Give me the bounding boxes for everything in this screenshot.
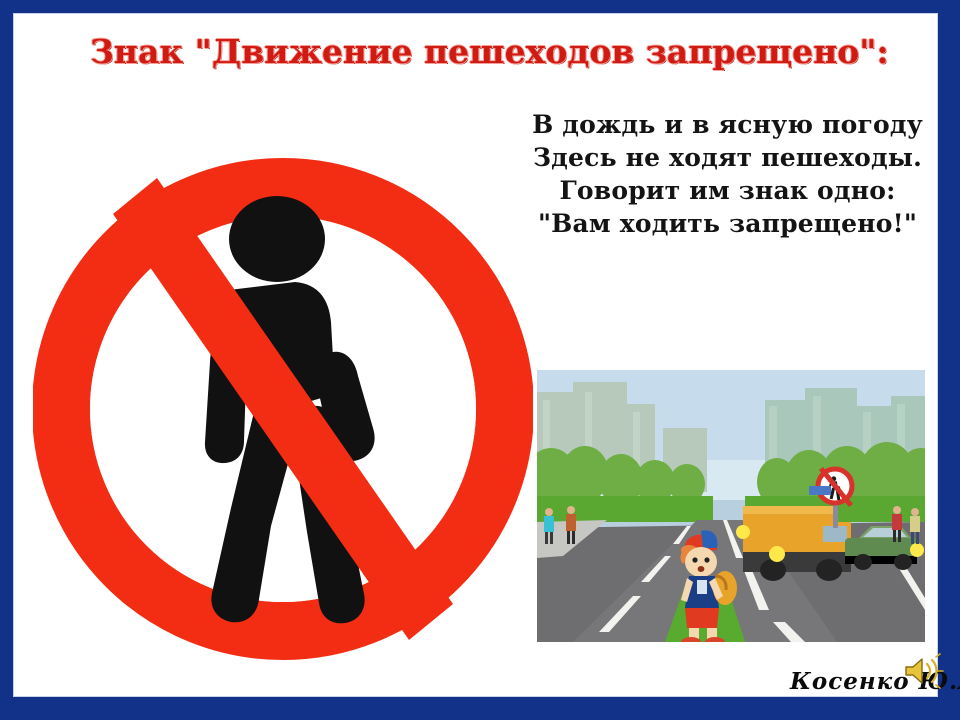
poem-line-4: "Вам ходить запрещено!": [520, 207, 935, 240]
truck-marker-light-1: [736, 525, 750, 539]
poem-line-1: В дождь и в ясную погоду: [520, 108, 935, 141]
border-bottom: [0, 697, 960, 720]
slide-root: Знак "Движение пешеходов запрещено": В д…: [0, 0, 960, 720]
page-title: Знак "Движение пешеходов запрещено":: [90, 32, 880, 72]
car-headlight: [910, 543, 924, 557]
border-left: [0, 0, 13, 720]
poem-block: В дождь и в ясную погоду Здесь не ходят …: [520, 108, 935, 240]
truck-marker-light-2: [769, 546, 785, 562]
city-street-photo: [537, 370, 925, 642]
border-right: [938, 0, 960, 720]
no-pedestrians-sign: [33, 156, 533, 662]
photo-grass-left: [537, 496, 713, 522]
poem-line-2: Здесь не ходят пешеходы.: [520, 141, 935, 174]
poem-line-3: Говорит им знак одно:: [520, 174, 935, 207]
border-top: [0, 0, 960, 13]
speaker-icon[interactable]: [900, 653, 944, 689]
